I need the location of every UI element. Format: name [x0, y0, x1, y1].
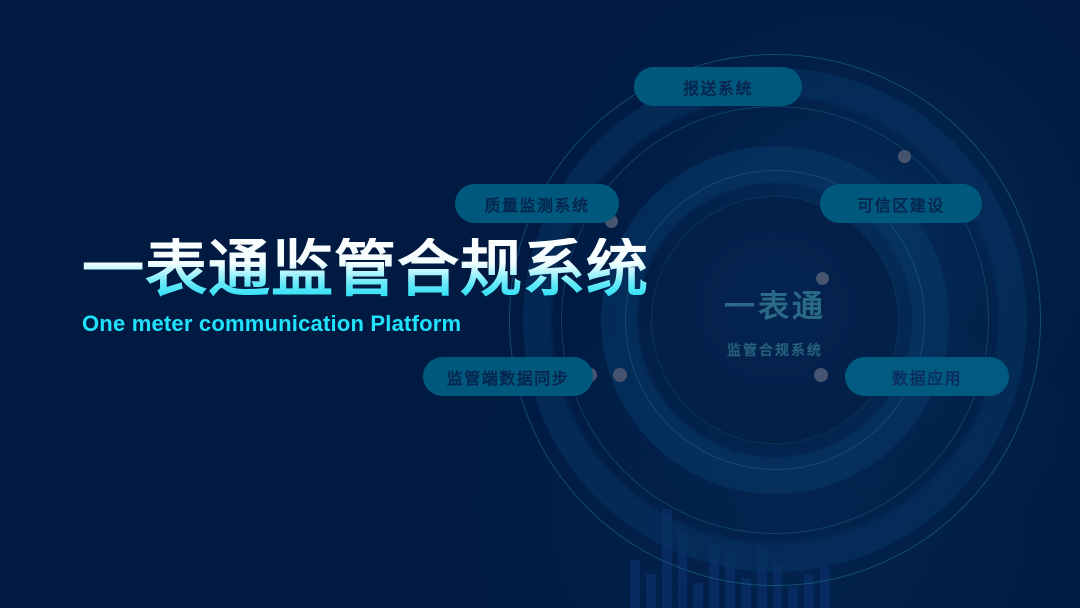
node-label: 报送系统 — [683, 75, 753, 99]
node-label: 可信区建设 — [857, 192, 945, 216]
headline-group: 一表通监管合规系统 One meter communication Platfo… — [82, 238, 682, 337]
orbit-dot-right-lower-inner — [814, 368, 828, 382]
node-regulator-data-sync[interactable]: 监管端数据同步 — [423, 357, 593, 396]
page-subtitle: One meter communication Platform — [82, 311, 682, 337]
node-label: 质量监测系统 — [484, 192, 589, 216]
node-trusted-zone-construction[interactable]: 可信区建设 — [820, 184, 982, 223]
node-reporting-system[interactable]: 报送系统 — [634, 67, 802, 106]
orbit-dot-top-right — [816, 272, 829, 285]
orbit-dot-left-lower-inner — [613, 368, 627, 382]
node-label: 数据应用 — [892, 365, 962, 389]
bar — [788, 587, 798, 608]
node-quality-monitoring-system[interactable]: 质量监测系统 — [455, 184, 619, 223]
hub-label-group: 一表通 监管合规系统 — [651, 196, 899, 444]
slide-canvas: 一表通 监管合规系统 报送系统 质量监测系统 可信区建设 监管端数据同步 数据应… — [0, 0, 1080, 608]
orbit-dot-right-upper — [898, 150, 911, 163]
page-title: 一表通监管合规系统 — [82, 238, 682, 301]
hub-title: 一表通 — [724, 281, 826, 326]
node-data-application[interactable]: 数据应用 — [845, 357, 1009, 396]
node-label: 监管端数据同步 — [447, 365, 570, 389]
hub-subtitle: 监管合规系统 — [727, 340, 823, 360]
